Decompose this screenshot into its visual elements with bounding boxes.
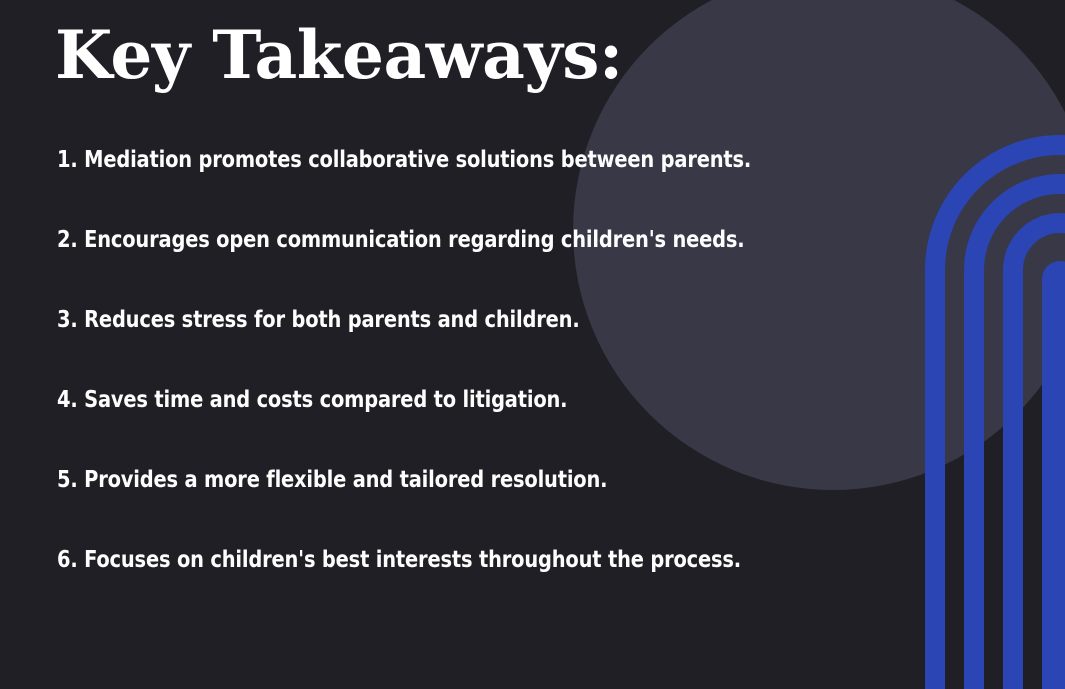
page-title: Key Takeaways: — [55, 22, 623, 88]
list-item: 1. Mediation promotes collaborative solu… — [57, 148, 848, 188]
takeaways-list: 1. Mediation promotes collaborative solu… — [57, 148, 917, 628]
slide-canvas: Key Takeaways: 1. Mediation promotes col… — [0, 0, 1065, 689]
list-item: 5. Provides a more flexible and tailored… — [57, 468, 848, 508]
list-item: 6. Focuses on children's best interests … — [57, 548, 848, 588]
list-item: 2. Encourages open communication regardi… — [57, 228, 848, 268]
slide-content: Key Takeaways: 1. Mediation promotes col… — [0, 0, 1065, 689]
list-item: 4. Saves time and costs compared to liti… — [57, 388, 848, 428]
list-item: 3. Reduces stress for both parents and c… — [57, 308, 848, 348]
